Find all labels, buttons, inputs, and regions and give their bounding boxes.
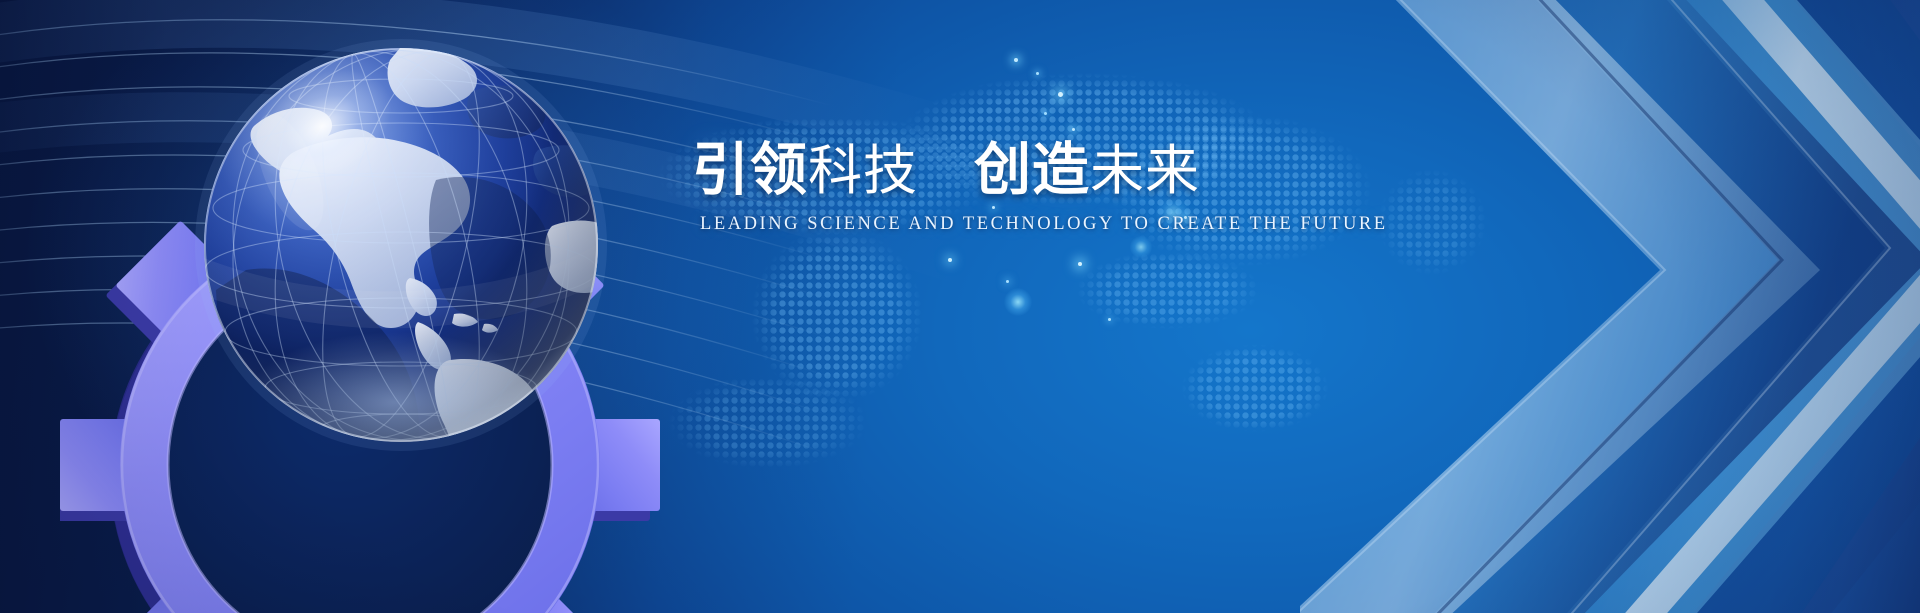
banner-canvas: 引领科技创造未来 LEADING SCIENCE AND TECHNOLOGY … — [0, 0, 1920, 613]
vignette-overlay — [0, 0, 1920, 613]
